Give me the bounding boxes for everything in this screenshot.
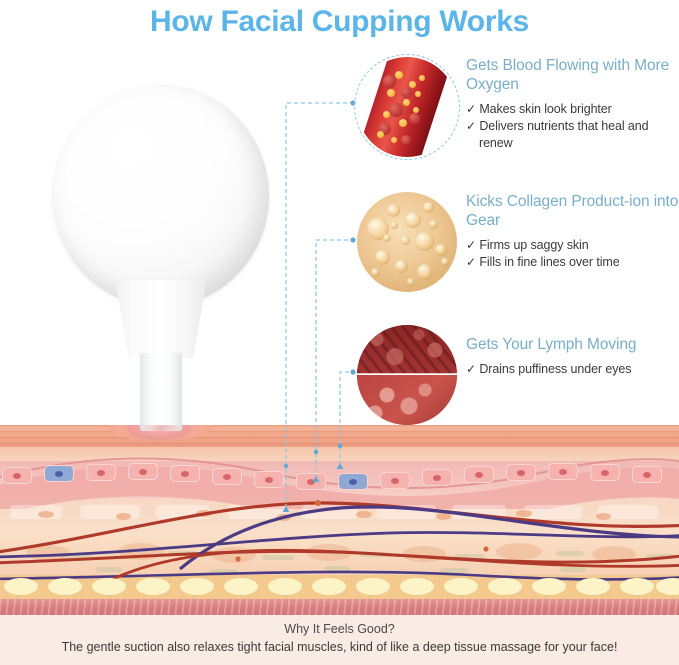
benefit-heading-3: Gets Your Lymph Moving (466, 335, 679, 354)
benefit-block-1: Gets Blood Flowing with More Oxygen ✓ Ma… (466, 56, 679, 152)
lymph-tissue-upper (357, 325, 457, 373)
skin-cell (464, 466, 494, 483)
footer-banner: Why It Feels Good? The gentle suction al… (0, 615, 679, 665)
page-title: How Facial Cupping Works (0, 2, 679, 42)
connector-dot (350, 369, 355, 374)
benefit-item-text: Makes skin look brighter (479, 102, 611, 116)
cupping-bulb (53, 85, 269, 307)
benefit-item-text: Delivers nutrients that heal and renew (479, 119, 648, 150)
epidermal-cell-row-1 (0, 461, 679, 481)
fat-cell-row (0, 575, 679, 599)
skin-cell (422, 469, 452, 486)
skin-cell (632, 466, 662, 483)
skin-cell (590, 464, 620, 481)
skin-cell (86, 464, 116, 481)
benefit-block-2: Kicks Collagen Product-ion into Gear ✓ F… (466, 192, 679, 271)
skin-cell (2, 467, 32, 484)
skin-cell (212, 468, 242, 485)
cupping-neck (111, 280, 211, 358)
melanocyte-cell (44, 465, 74, 482)
benefit-item: ✓ Firms up saggy skin (466, 237, 679, 254)
benefit-list-1: ✓ Makes skin look brighter ✓ Delivers nu… (466, 101, 679, 152)
skin-layer-muscle (0, 599, 679, 615)
benefit-item: ✓ Drains puffiness under eyes (466, 361, 679, 378)
skin-cell (170, 465, 200, 482)
check-icon: ✓ (466, 119, 476, 133)
benefit-block-3: Gets Your Lymph Moving ✓ Drains puffines… (466, 335, 679, 378)
check-icon: ✓ (466, 362, 476, 376)
benefit-item: ✓ Makes skin look brighter (466, 101, 679, 118)
collagen-bubbles-circle-icon (357, 192, 457, 292)
check-icon: ✓ (466, 102, 476, 116)
skin-cross-section (0, 425, 679, 615)
benefit-image-1 (357, 57, 457, 157)
skin-cell (548, 463, 578, 480)
lymph-tissue-lower (357, 375, 457, 425)
connector-dot (350, 237, 355, 242)
lymph-tissue-circle-icon (357, 325, 457, 425)
benefit-item-text: Drains puffiness under eyes (479, 362, 631, 376)
cupping-device (40, 85, 280, 430)
benefit-list-3: ✓ Drains puffiness under eyes (466, 361, 679, 378)
benefit-heading-2: Kicks Collagen Product-ion into Gear (466, 192, 679, 230)
check-icon: ✓ (466, 238, 476, 252)
infographic-root: How Facial Cupping Works (0, 0, 679, 665)
benefit-heading-1: Gets Blood Flowing with More Oxygen (466, 56, 679, 94)
benefit-image-2 (357, 192, 457, 292)
blood-vessel-circle-icon (357, 57, 457, 157)
muscle-fiber-texture (0, 599, 679, 615)
benefit-image-3 (357, 325, 457, 425)
blood-vessel-network (0, 485, 679, 585)
skin-cell (506, 464, 536, 481)
benefit-list-2: ✓ Firms up saggy skin ✓ Fills in fine li… (466, 237, 679, 271)
benefit-item: ✓ Fills in fine lines over time (466, 254, 679, 271)
benefit-item-text: Firms up saggy skin (479, 238, 588, 252)
cupping-glass-tube (140, 353, 182, 431)
skin-cell (128, 463, 158, 480)
footer-question: Why It Feels Good? (0, 621, 679, 638)
check-icon: ✓ (466, 255, 476, 269)
benefit-item-text: Fills in fine lines over time (479, 255, 619, 269)
footer-answer: The gentle suction also relaxes tight fa… (0, 638, 679, 656)
benefit-item: ✓ Delivers nutrients that heal and renew (466, 118, 679, 152)
